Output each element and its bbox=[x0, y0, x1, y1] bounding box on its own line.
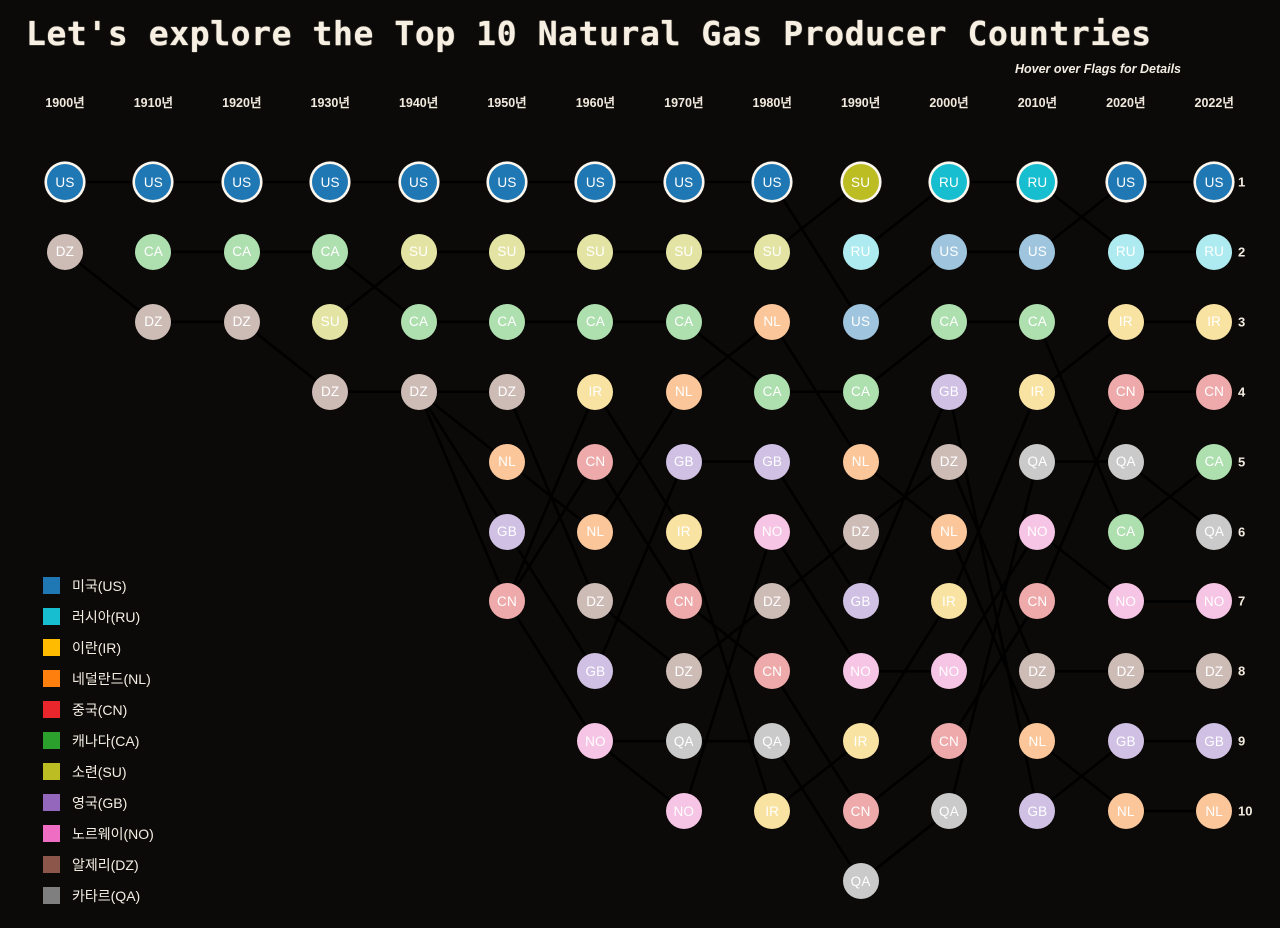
node-DZ-1950[interactable]: DZ bbox=[489, 374, 525, 410]
node-SU-1990[interactable]: SU bbox=[843, 164, 879, 200]
node-US-2020[interactable]: US bbox=[1108, 164, 1144, 200]
legend-item-nl[interactable]: 네덜란드(NL) bbox=[43, 663, 154, 694]
node-IR-1990[interactable]: IR bbox=[843, 723, 879, 759]
legend-label-su: 소련(SU) bbox=[72, 762, 127, 782]
node-IR-1960[interactable]: IR bbox=[577, 374, 613, 410]
rank-label-2: 2 bbox=[1238, 244, 1245, 259]
node-NL-2022[interactable]: NL bbox=[1196, 793, 1232, 829]
node-GB-1960[interactable]: GB bbox=[577, 653, 613, 689]
node-US-1910[interactable]: US bbox=[135, 164, 171, 200]
legend-label-no: 노르웨이(NO) bbox=[72, 824, 154, 844]
legend-item-ca[interactable]: 캐나다(CA) bbox=[43, 725, 154, 756]
link-DZ bbox=[507, 392, 595, 602]
node-CA-1970[interactable]: CA bbox=[666, 304, 702, 340]
node-CN-1970[interactable]: CN bbox=[666, 583, 702, 619]
node-US-2010[interactable]: US bbox=[1019, 234, 1055, 270]
node-DZ-2010[interactable]: DZ bbox=[1019, 653, 1055, 689]
node-NO-2022[interactable]: NO bbox=[1196, 583, 1232, 619]
legend-label-ca: 캐나다(CA) bbox=[72, 731, 139, 751]
node-US-1950[interactable]: US bbox=[489, 164, 525, 200]
legend-item-cn[interactable]: 중국(CN) bbox=[43, 694, 154, 725]
node-NL-1980[interactable]: NL bbox=[754, 304, 790, 340]
node-CA-2000[interactable]: CA bbox=[931, 304, 967, 340]
node-IR-2022[interactable]: IR bbox=[1196, 304, 1232, 340]
node-CN-2020[interactable]: CN bbox=[1108, 374, 1144, 410]
node-CA-1950[interactable]: CA bbox=[489, 304, 525, 340]
node-QA-2020[interactable]: QA bbox=[1108, 444, 1144, 480]
node-DZ-1960[interactable]: DZ bbox=[577, 583, 613, 619]
rank-link-lines bbox=[0, 0, 1280, 928]
node-US-1920[interactable]: US bbox=[224, 164, 260, 200]
node-US-2000[interactable]: US bbox=[931, 234, 967, 270]
node-SU-1930[interactable]: SU bbox=[312, 304, 348, 340]
node-NL-1970[interactable]: NL bbox=[666, 374, 702, 410]
link-CA bbox=[1037, 322, 1125, 532]
legend-item-gb[interactable]: 영국(GB) bbox=[43, 787, 154, 818]
year-label-1910: 1910년 bbox=[134, 92, 173, 111]
node-SU-1960[interactable]: SU bbox=[577, 234, 613, 270]
node-DZ-2022[interactable]: DZ bbox=[1196, 653, 1232, 689]
legend-item-su[interactable]: 소련(SU) bbox=[43, 756, 154, 787]
legend-label-dz: 알제리(DZ) bbox=[72, 855, 139, 875]
node-RU-1990[interactable]: RU bbox=[843, 234, 879, 270]
legend-label-nl: 네덜란드(NL) bbox=[72, 669, 151, 689]
node-GB-2022[interactable]: GB bbox=[1196, 723, 1232, 759]
node-CN-2010[interactable]: CN bbox=[1019, 583, 1055, 619]
legend-swatch-cn bbox=[43, 701, 60, 718]
node-QA-2000[interactable]: QA bbox=[931, 793, 967, 829]
legend-swatch-qa bbox=[43, 887, 60, 904]
year-label-1970: 1970년 bbox=[664, 92, 703, 111]
legend-label-us: 미국(US) bbox=[72, 576, 127, 596]
legend-swatch-us bbox=[43, 577, 60, 594]
hover-hint: Hover over Flags for Details bbox=[1015, 62, 1181, 76]
node-CN-2022[interactable]: CN bbox=[1196, 374, 1232, 410]
legend-label-ir: 이란(IR) bbox=[72, 638, 121, 658]
rank-label-7: 7 bbox=[1238, 594, 1245, 609]
node-QA-1980[interactable]: QA bbox=[754, 723, 790, 759]
node-IR-1970[interactable]: IR bbox=[666, 514, 702, 550]
node-QA-1970[interactable]: QA bbox=[666, 723, 702, 759]
year-label-2022: 2022년 bbox=[1195, 92, 1234, 111]
node-NO-1980[interactable]: NO bbox=[754, 514, 790, 550]
node-DZ-2000[interactable]: DZ bbox=[931, 444, 967, 480]
node-CN-1960[interactable]: CN bbox=[577, 444, 613, 480]
legend-item-dz[interactable]: 알제리(DZ) bbox=[43, 849, 154, 880]
node-DZ-1940[interactable]: DZ bbox=[401, 374, 437, 410]
node-DZ-1970[interactable]: DZ bbox=[666, 653, 702, 689]
node-SU-1980[interactable]: SU bbox=[754, 234, 790, 270]
node-DZ-1990[interactable]: DZ bbox=[843, 514, 879, 550]
node-NL-1960[interactable]: NL bbox=[577, 514, 613, 550]
link-DZ bbox=[949, 462, 1037, 672]
node-NL-1990[interactable]: NL bbox=[843, 444, 879, 480]
node-SU-1940[interactable]: SU bbox=[401, 234, 437, 270]
node-NL-1950[interactable]: NL bbox=[489, 444, 525, 480]
node-NL-2020[interactable]: NL bbox=[1108, 793, 1144, 829]
node-NL-2010[interactable]: NL bbox=[1019, 723, 1055, 759]
rank-label-9: 9 bbox=[1238, 734, 1245, 749]
node-US-1930[interactable]: US bbox=[312, 164, 348, 200]
rank-label-8: 8 bbox=[1238, 664, 1245, 679]
node-CA-1990[interactable]: CA bbox=[843, 374, 879, 410]
year-label-2020: 2020년 bbox=[1106, 92, 1145, 111]
rank-label-6: 6 bbox=[1238, 524, 1245, 539]
node-QA-2022[interactable]: QA bbox=[1196, 514, 1232, 550]
year-label-2010: 2010년 bbox=[1018, 92, 1057, 111]
year-label-1930: 1930년 bbox=[311, 92, 350, 111]
link-CN bbox=[1037, 392, 1125, 602]
node-DZ-1920[interactable]: DZ bbox=[224, 304, 260, 340]
node-CA-1940[interactable]: CA bbox=[401, 304, 437, 340]
node-QA-1990[interactable]: QA bbox=[843, 863, 879, 899]
node-CA-2022[interactable]: CA bbox=[1196, 444, 1232, 480]
node-CA-2010[interactable]: CA bbox=[1019, 304, 1055, 340]
year-label-1920: 1920년 bbox=[222, 92, 261, 111]
node-NO-1970[interactable]: NO bbox=[666, 793, 702, 829]
legend-label-gb: 영국(GB) bbox=[72, 793, 127, 813]
node-CA-1910[interactable]: CA bbox=[135, 234, 171, 270]
node-SU-1950[interactable]: SU bbox=[489, 234, 525, 270]
node-RU-2022[interactable]: RU bbox=[1196, 234, 1232, 270]
legend-swatch-ru bbox=[43, 608, 60, 625]
node-IR-2000[interactable]: IR bbox=[931, 583, 967, 619]
node-US-1960[interactable]: US bbox=[577, 164, 613, 200]
link-entry-IR bbox=[507, 392, 595, 602]
node-CA-1930[interactable]: CA bbox=[312, 234, 348, 270]
legend-item-ir[interactable]: 이란(IR) bbox=[43, 632, 154, 663]
country-legend: 미국(US)러시아(RU)이란(IR)네덜란드(NL)중국(CN)캐나다(CA)… bbox=[43, 570, 154, 911]
node-QA-2010[interactable]: QA bbox=[1019, 444, 1055, 480]
node-CN-1950[interactable]: CN bbox=[489, 583, 525, 619]
node-DZ-1980[interactable]: DZ bbox=[754, 583, 790, 619]
node-GB-2000[interactable]: GB bbox=[931, 374, 967, 410]
year-label-1950: 1950년 bbox=[487, 92, 526, 111]
node-DZ-1930[interactable]: DZ bbox=[312, 374, 348, 410]
node-RU-2000[interactable]: RU bbox=[931, 164, 967, 200]
link-NL bbox=[949, 532, 1037, 742]
node-NO-2020[interactable]: NO bbox=[1108, 583, 1144, 619]
node-CA-1980[interactable]: CA bbox=[754, 374, 790, 410]
link-QA bbox=[949, 462, 1037, 811]
page-title: Let's explore the Top 10 Natural Gas Pro… bbox=[26, 14, 1152, 53]
node-US-1970[interactable]: US bbox=[666, 164, 702, 200]
node-RU-2020[interactable]: RU bbox=[1108, 234, 1144, 270]
rank-label-1: 1 bbox=[1238, 175, 1245, 190]
bump-chart-page: Let's explore the Top 10 Natural Gas Pro… bbox=[0, 0, 1280, 928]
node-DZ-1910[interactable]: DZ bbox=[135, 304, 171, 340]
legend-item-ru[interactable]: 러시아(RU) bbox=[43, 601, 154, 632]
node-NO-1960[interactable]: NO bbox=[577, 723, 613, 759]
node-GB-2020[interactable]: GB bbox=[1108, 723, 1144, 759]
node-CN-2000[interactable]: CN bbox=[931, 723, 967, 759]
node-RU-2010[interactable]: RU bbox=[1019, 164, 1055, 200]
legend-swatch-ir bbox=[43, 639, 60, 656]
node-DZ-1900[interactable]: DZ bbox=[47, 234, 83, 270]
node-SU-1970[interactable]: SU bbox=[666, 234, 702, 270]
link-entry-CN bbox=[419, 392, 507, 602]
node-US-1940[interactable]: US bbox=[401, 164, 437, 200]
rank-label-10: 10 bbox=[1238, 804, 1252, 819]
legend-swatch-ca bbox=[43, 732, 60, 749]
node-NO-2010[interactable]: NO bbox=[1019, 514, 1055, 550]
node-US-1980[interactable]: US bbox=[754, 164, 790, 200]
legend-swatch-su bbox=[43, 763, 60, 780]
year-label-2000: 2000년 bbox=[929, 92, 968, 111]
node-IR-2010[interactable]: IR bbox=[1019, 374, 1055, 410]
rank-label-3: 3 bbox=[1238, 314, 1245, 329]
link-GB bbox=[861, 392, 949, 602]
node-US-1990[interactable]: US bbox=[843, 304, 879, 340]
year-label-1990: 1990년 bbox=[841, 92, 880, 111]
rank-label-4: 4 bbox=[1238, 384, 1245, 399]
node-US-2022[interactable]: US bbox=[1196, 164, 1232, 200]
node-GB-1950[interactable]: GB bbox=[489, 514, 525, 550]
link-IR bbox=[949, 392, 1037, 602]
legend-item-no[interactable]: 노르웨이(NO) bbox=[43, 818, 154, 849]
node-DZ-2020[interactable]: DZ bbox=[1108, 653, 1144, 689]
legend-label-ru: 러시아(RU) bbox=[72, 607, 140, 627]
legend-item-us[interactable]: 미국(US) bbox=[43, 570, 154, 601]
legend-item-qa[interactable]: 카타르(QA) bbox=[43, 880, 154, 911]
node-CA-2020[interactable]: CA bbox=[1108, 514, 1144, 550]
node-GB-1990[interactable]: GB bbox=[843, 583, 879, 619]
year-label-1900: 1900년 bbox=[45, 92, 84, 111]
node-NO-1990[interactable]: NO bbox=[843, 653, 879, 689]
legend-label-cn: 중국(CN) bbox=[72, 700, 127, 720]
node-CN-1990[interactable]: CN bbox=[843, 793, 879, 829]
year-label-1980: 1980년 bbox=[753, 92, 792, 111]
node-GB-1980[interactable]: GB bbox=[754, 444, 790, 480]
node-US-1900[interactable]: US bbox=[47, 164, 83, 200]
year-label-1940: 1940년 bbox=[399, 92, 438, 111]
rank-label-5: 5 bbox=[1238, 454, 1245, 469]
node-CA-1920[interactable]: CA bbox=[224, 234, 260, 270]
node-GB-1970[interactable]: GB bbox=[666, 444, 702, 480]
node-CN-1980[interactable]: CN bbox=[754, 653, 790, 689]
node-NL-2000[interactable]: NL bbox=[931, 514, 967, 550]
legend-swatch-no bbox=[43, 825, 60, 842]
node-IR-2020[interactable]: IR bbox=[1108, 304, 1144, 340]
legend-label-qa: 카타르(QA) bbox=[72, 886, 140, 906]
node-CA-1960[interactable]: CA bbox=[577, 304, 613, 340]
link-GB bbox=[595, 462, 683, 672]
legend-swatch-nl bbox=[43, 670, 60, 687]
legend-swatch-gb bbox=[43, 794, 60, 811]
year-label-1960: 1960년 bbox=[576, 92, 615, 111]
legend-swatch-dz bbox=[43, 856, 60, 873]
node-NO-2000[interactable]: NO bbox=[931, 653, 967, 689]
node-GB-2010[interactable]: GB bbox=[1019, 793, 1055, 829]
node-IR-1980[interactable]: IR bbox=[754, 793, 790, 829]
